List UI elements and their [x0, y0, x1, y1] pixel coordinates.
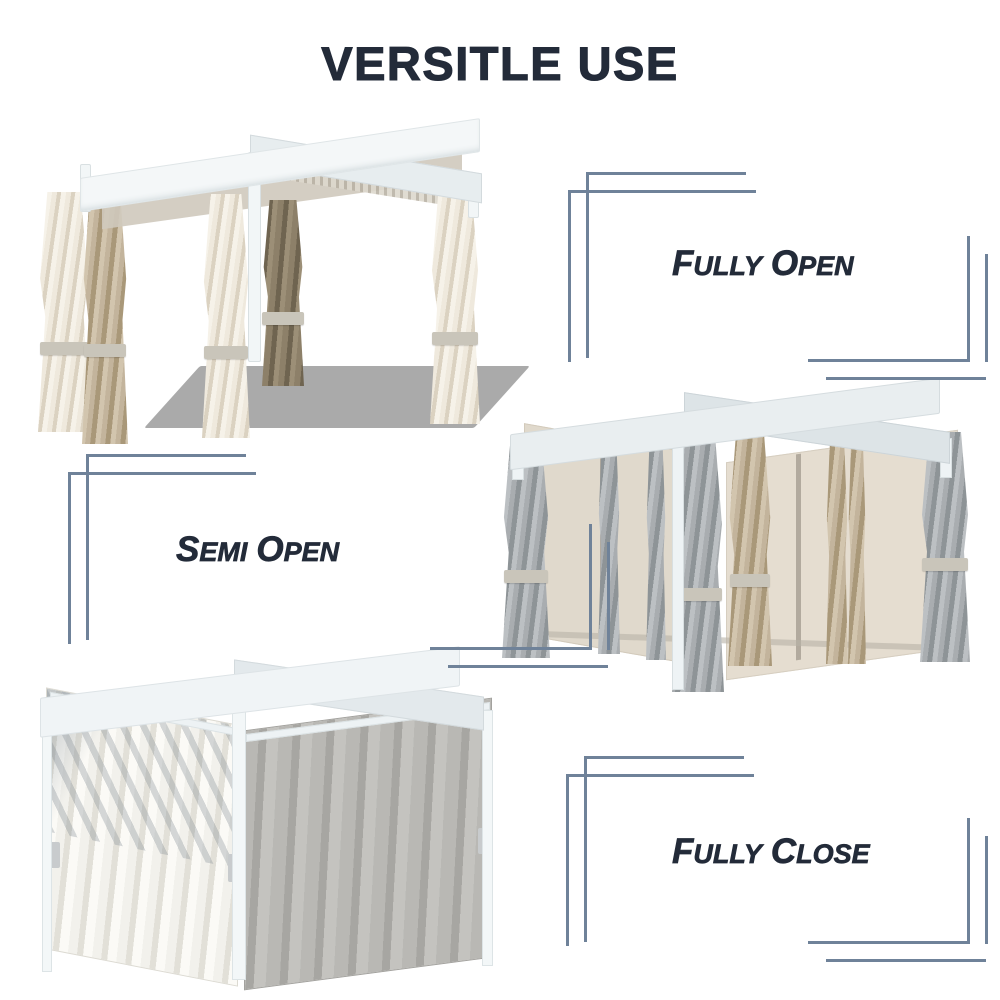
frame-post — [672, 424, 684, 690]
label-fully-open: FULLYOPEN — [672, 244, 854, 284]
label-semi-open: SEMIOPEN — [176, 530, 339, 570]
curtain — [430, 184, 480, 424]
label-semi-open-w2-rest: PEN — [284, 537, 340, 567]
curtain — [728, 434, 772, 666]
label-fully-open-w2-initial: O — [771, 244, 798, 283]
gazebo-fully-close-photo — [22, 658, 522, 988]
gazebo-fully-open-photo — [22, 130, 522, 450]
label-fully-open-w2-rest: PEN — [798, 251, 854, 281]
page-title: VERSITLE USE — [0, 36, 1000, 91]
label-semi-open-w1-rest: EMI — [199, 537, 247, 567]
label-fully-open-w1-initial: F — [672, 244, 693, 283]
label-fully-close-w1-initial: F — [672, 832, 693, 871]
label-semi-open-w2-initial: O — [256, 530, 283, 569]
net-seam — [796, 454, 801, 661]
label-fully-close-w2-rest: LOSE — [796, 839, 870, 869]
curtain — [826, 438, 848, 664]
label-fully-close-w2-initial: C — [771, 832, 796, 871]
curtain — [646, 438, 666, 660]
label-fully-close: FULLYCLOSE — [672, 832, 870, 872]
infographic-canvas: VERSITLE USE — [0, 0, 1000, 1000]
curtain — [848, 436, 866, 664]
curtain — [262, 200, 304, 386]
curtain — [202, 194, 250, 438]
label-semi-open-w1-initial: S — [176, 530, 199, 569]
frame-post — [42, 702, 52, 972]
label-fully-open-w1-rest: ULLY — [693, 251, 762, 281]
corner-bracket-bottom-right — [430, 524, 610, 668]
frame-post — [482, 710, 493, 966]
closed-curtain-wall — [244, 698, 492, 991]
label-fully-close-w1-rest: ULLY — [693, 839, 762, 869]
frame-post — [232, 676, 246, 980]
